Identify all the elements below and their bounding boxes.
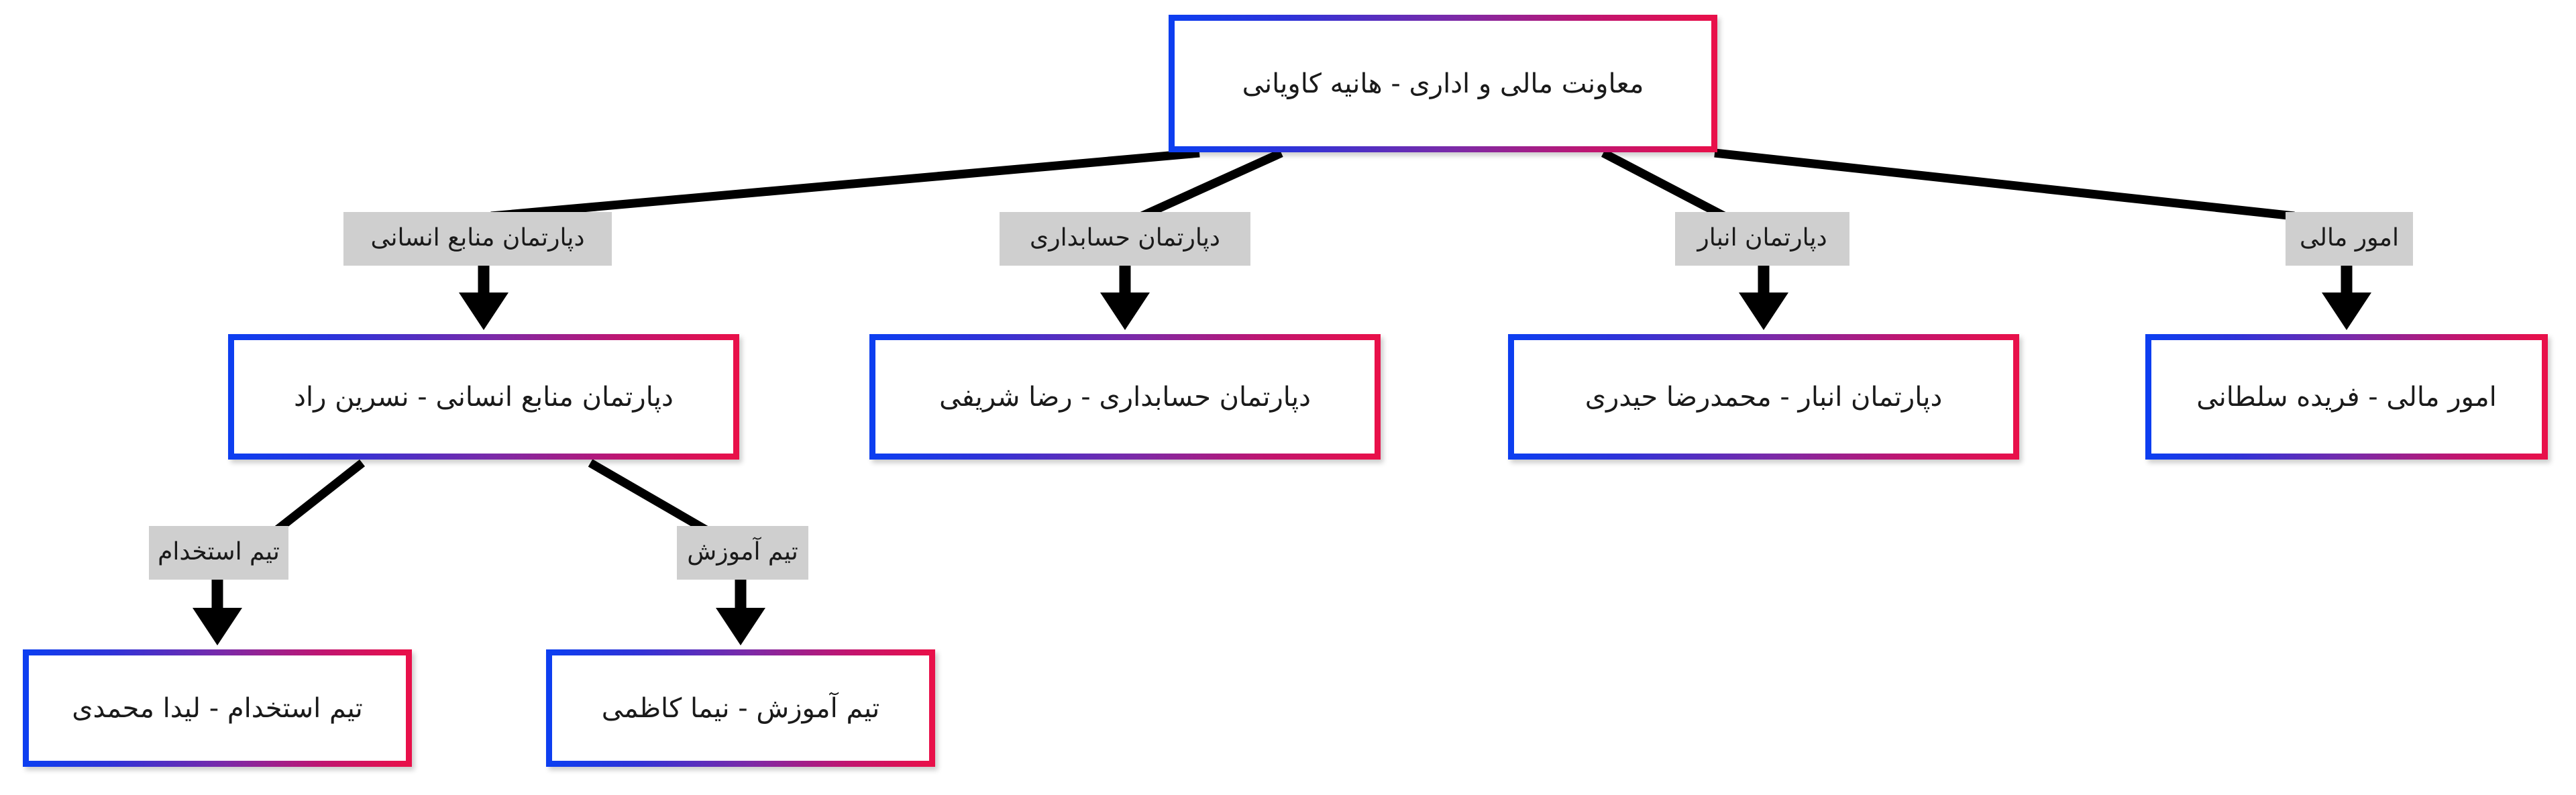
node-inner: دپارتمان منابع انسانی - نسرین راد [234, 340, 733, 454]
node-label: دپارتمان منابع انسانی - نسرین راد [294, 380, 674, 414]
node-root[interactable]: معاونت مالی و اداری - هانیه کاویانی [1169, 15, 1717, 152]
node-label: تیم آموزش - نیما کاظمی [602, 692, 880, 725]
node-accounting-dept[interactable]: دپارتمان حسابداری - رضا شریفی [869, 334, 1381, 460]
node-warehouse-dept[interactable]: دپارتمان انبار - محمدرضا حیدری [1508, 334, 2019, 460]
node-inner: معاونت مالی و اداری - هانیه کاویانی [1175, 21, 1711, 146]
node-inner: امور مالی - فریده سلطانی [2151, 340, 2542, 454]
edge-label-edge-hr-recruitment[interactable]: تیم استخدام [149, 526, 288, 580]
node-training-team[interactable]: تیم آموزش - نیما کاظمی [546, 649, 935, 767]
path-root-hr [491, 153, 1199, 216]
node-inner: تیم آموزش - نیما کاظمی [552, 655, 929, 761]
node-hr-dept[interactable]: دپارتمان منابع انسانی - نسرین راد [228, 334, 739, 460]
edge-label-edge-root-finance[interactable]: امور مالی [2286, 212, 2413, 266]
arrow-recruitment-team-head [193, 608, 242, 645]
arrow-warehouse-dept-head [1739, 293, 1788, 330]
path-root-finance [1715, 153, 2294, 216]
arrow-accounting-dept-head [1100, 293, 1150, 330]
org-chart: معاونت مالی و اداری - هانیه کاویانیدپارت… [0, 0, 2576, 795]
node-inner: تیم استخدام - لیدا محمدی [29, 655, 406, 761]
node-inner: دپارتمان انبار - محمدرضا حیدری [1514, 340, 2013, 454]
path-root-accounting [1142, 153, 1281, 216]
arrow-training-team-head [716, 608, 765, 645]
node-label: دپارتمان انبار - محمدرضا حیدری [1585, 380, 1943, 414]
node-label: تیم استخدام - لیدا محمدی [72, 692, 363, 725]
node-label: امور مالی - فریده سلطانی [2196, 380, 2496, 414]
arrow-warehouse-dept-stem [1758, 266, 1770, 293]
arrow-accounting-dept-stem [1120, 266, 1131, 293]
edge-label-edge-hr-training[interactable]: تیم آموزش [677, 526, 808, 580]
arrow-recruitment-team-stem [212, 580, 223, 608]
path-root-warehouse [1603, 153, 1724, 216]
node-inner: دپارتمان حسابداری - رضا شریفی [875, 340, 1375, 454]
arrow-training-team-stem [735, 580, 747, 608]
arrow-hr-dept-head [459, 293, 508, 330]
node-label: معاونت مالی و اداری - هانیه کاویانی [1242, 67, 1644, 101]
edge-label-edge-root-hr[interactable]: دپارتمان منابع انسانی [343, 212, 612, 266]
node-finance-affairs[interactable]: امور مالی - فریده سلطانی [2145, 334, 2548, 460]
arrow-hr-dept-stem [478, 266, 490, 293]
edge-label-edge-root-warehouse[interactable]: دپارتمان انبار [1675, 212, 1849, 266]
arrow-finance-affairs-stem [2341, 266, 2353, 293]
edge-label-edge-root-accounting[interactable]: دپارتمان حسابداری [1000, 212, 1250, 266]
node-label: دپارتمان حسابداری - رضا شریفی [939, 380, 1311, 414]
arrow-finance-affairs-head [2322, 293, 2371, 330]
node-recruitment-team[interactable]: تیم استخدام - لیدا محمدی [23, 649, 412, 767]
